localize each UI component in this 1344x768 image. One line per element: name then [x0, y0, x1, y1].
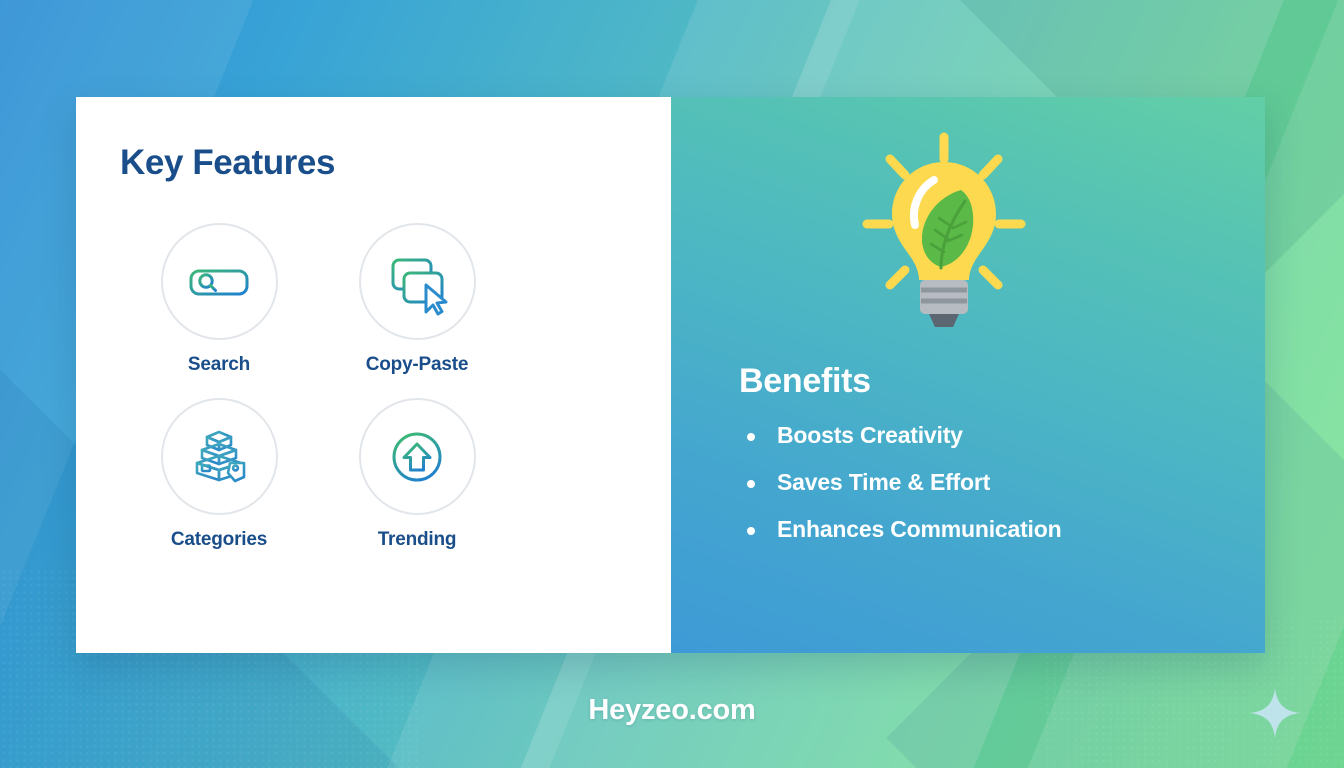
- feature-icon-circle: [359, 398, 476, 515]
- benefits-panel: Benefits Boosts Creativity Saves Time & …: [671, 97, 1265, 653]
- feature-item-search[interactable]: Search: [120, 223, 318, 376]
- list-item-label: Boosts Creativity: [777, 422, 963, 448]
- page-title: Key Features: [120, 143, 627, 183]
- list-item: Enhances Communication: [745, 516, 1061, 543]
- feature-label: Trending: [378, 529, 457, 551]
- feature-icon-circle: [161, 398, 278, 515]
- copy-paste-icon: [381, 246, 453, 318]
- list-item-label: Saves Time & Effort: [777, 469, 990, 495]
- benefits-title: Benefits: [739, 362, 871, 401]
- feature-item-trending[interactable]: Trending: [318, 398, 516, 551]
- brand-footer: Heyzeo.com: [0, 694, 1344, 727]
- lightbulb-with-leaf-icon: [849, 129, 1039, 334]
- list-item-label: Enhances Communication: [777, 516, 1061, 542]
- feature-label: Copy-Paste: [366, 354, 469, 376]
- feature-label: Search: [188, 354, 250, 376]
- bullet-icon: [747, 527, 755, 535]
- up-arrow-circle-icon: [381, 421, 453, 493]
- search-bar-icon: [183, 246, 255, 318]
- list-item: Boosts Creativity: [745, 422, 1061, 449]
- four-point-sparkle-icon: [1248, 686, 1302, 740]
- feature-icon-circle: [161, 223, 278, 340]
- list-item: Saves Time & Effort: [745, 469, 1061, 496]
- feature-icon-circle: [359, 223, 476, 340]
- key-features-card: Key Features: [76, 97, 671, 653]
- feature-item-copy-paste[interactable]: Copy-Paste: [318, 223, 516, 376]
- feature-grid: Search: [120, 223, 627, 551]
- bullet-icon: [747, 433, 755, 441]
- feature-item-categories[interactable]: Categories: [120, 398, 318, 551]
- slide-canvas: Key Features: [0, 0, 1344, 768]
- content-slab: Key Features: [76, 97, 1265, 653]
- lightbulb-illustration: [849, 129, 1039, 334]
- benefits-list: Boosts Creativity Saves Time & Effort En…: [745, 422, 1061, 563]
- feature-label: Categories: [171, 529, 267, 551]
- stacked-boxes-tag-icon: [183, 421, 255, 493]
- bullet-icon: [747, 480, 755, 488]
